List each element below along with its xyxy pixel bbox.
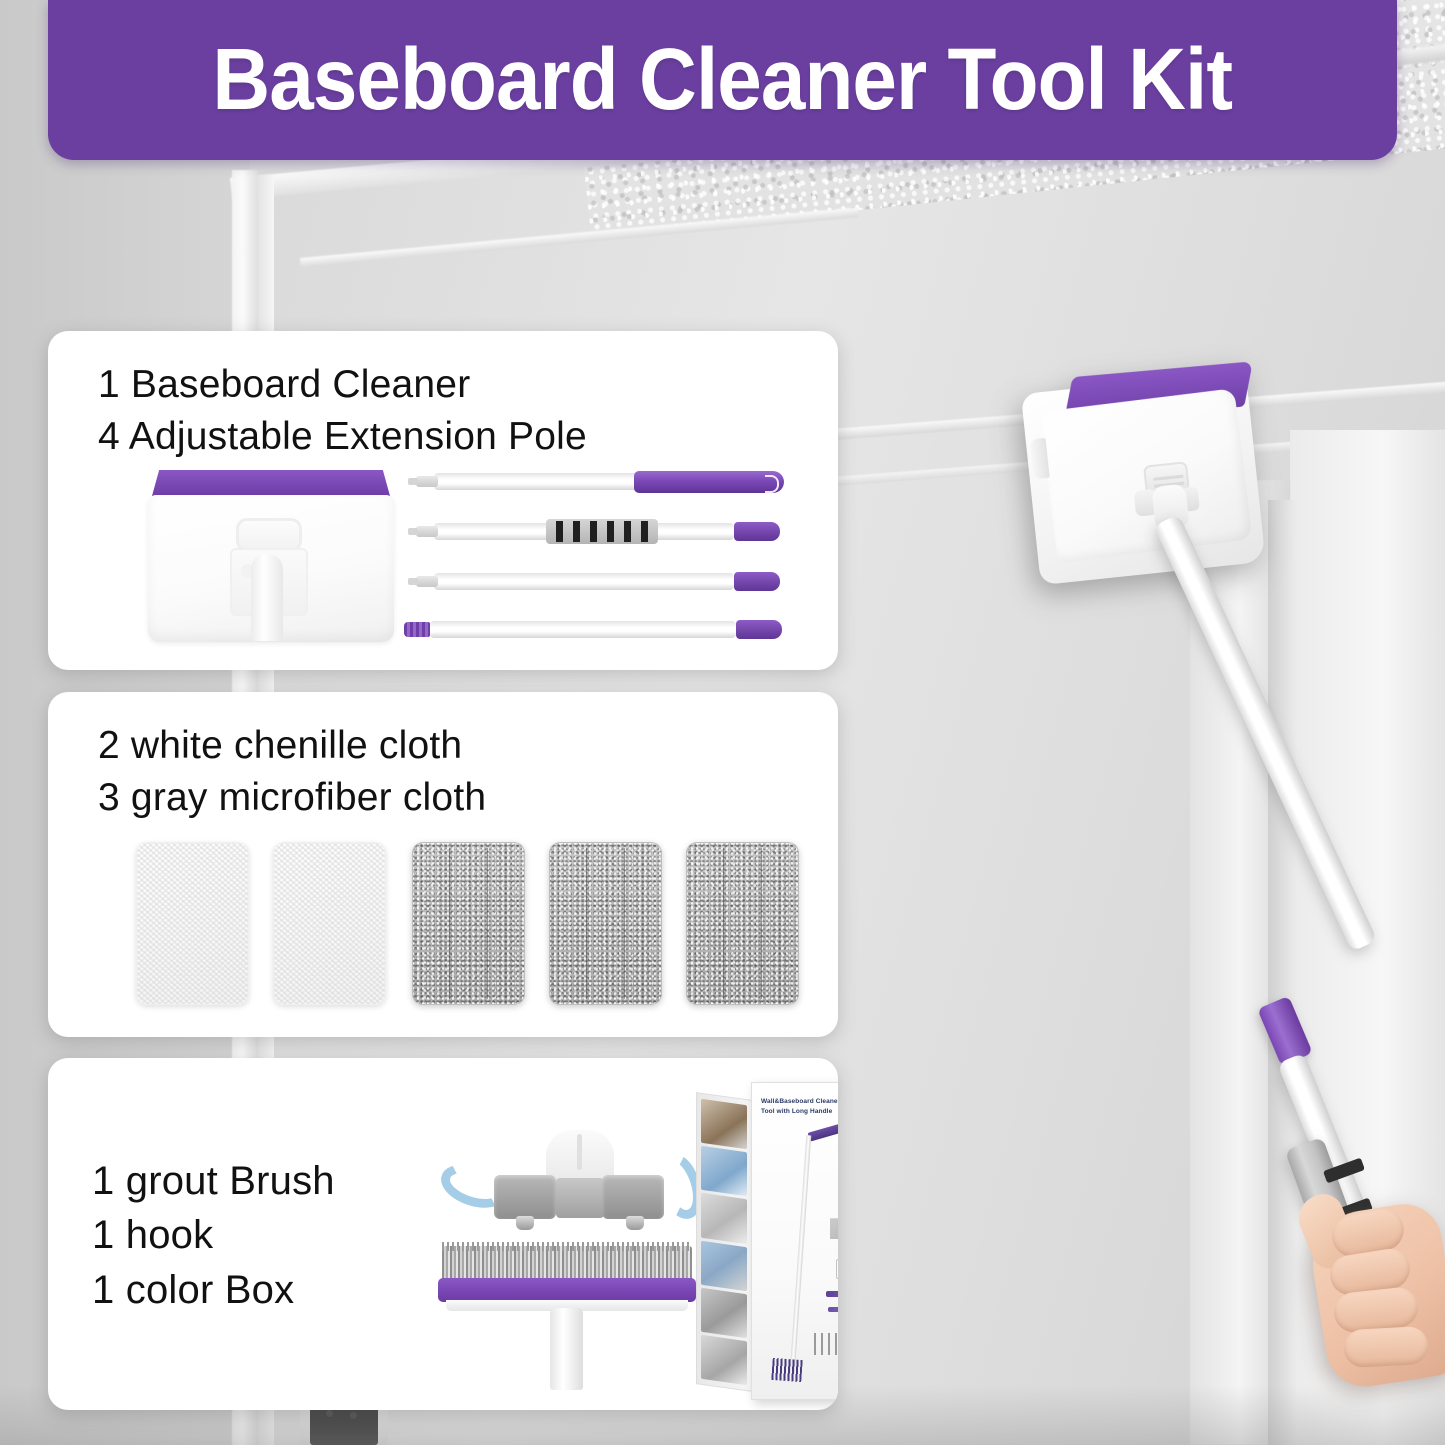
page-title: Baseboard Cleaner Tool Kit — [213, 30, 1233, 130]
pole-4-tube — [430, 621, 736, 638]
card-3-line-3: 1 color Box — [92, 1263, 335, 1317]
brush-purple-base — [438, 1278, 696, 1302]
pole-1-tube — [434, 473, 644, 490]
info-card-cloths: 2 white chenille cloth 3 gray microfiber… — [48, 692, 838, 1037]
pole-1 — [416, 471, 796, 492]
brush-handle-stem — [550, 1308, 583, 1390]
pole-2-tip — [416, 526, 438, 537]
color-box-front-panel: Wall&Baseboard Cleaner Tool with Long Ha… — [751, 1082, 838, 1400]
box-thumbnail — [701, 1146, 747, 1197]
color-box-title-line-2: Tool with Long Handle — [761, 1107, 838, 1117]
box-art-cloth — [830, 1207, 838, 1239]
card-1-line-1: 1 Baseboard Cleaner — [98, 359, 587, 411]
info-card-brush-hook-box: 1 grout Brush 1 hook 1 color Box Wall&B — [48, 1058, 838, 1410]
hook-illustration — [454, 1130, 704, 1250]
cloths-illustration — [136, 842, 796, 1007]
pole-4 — [404, 619, 796, 640]
card-1-line-2: 4 Adjustable Extension Pole — [98, 411, 587, 463]
color-box-side-panel — [696, 1092, 752, 1392]
pole-2-foam-grip — [546, 519, 658, 544]
pole-3-purple-cap — [734, 572, 780, 591]
cloth-gray-3 — [686, 842, 799, 1005]
pole-4-purple-cap — [736, 620, 782, 639]
pole-2 — [416, 521, 796, 542]
pole-4-threaded-tip — [404, 622, 430, 637]
hook-bar-right — [602, 1175, 664, 1219]
card-2-line-1: 2 white chenille cloth — [98, 720, 486, 772]
grout-brush-illustration — [434, 1246, 704, 1391]
hook-screw-foot-left — [516, 1216, 534, 1230]
pole-1-purple-handle — [634, 471, 784, 493]
box-thumbnail — [701, 1193, 747, 1244]
box-art-accessory — [826, 1291, 838, 1297]
mop-head-connector-post — [251, 554, 283, 641]
box-thumbnail — [701, 1335, 747, 1386]
card-2-line-2: 3 gray microfiber cloth — [98, 772, 486, 824]
box-art-accessory — [828, 1307, 838, 1312]
brush-bristles — [442, 1246, 692, 1280]
mop-head-rounded-slot — [236, 518, 302, 552]
door-frame-right-inner — [1268, 500, 1298, 1445]
box-barcode — [771, 1358, 802, 1382]
mop-head-purple-strip — [152, 470, 390, 496]
cloth-gray-2 — [549, 842, 662, 1005]
pole-1-tip — [416, 476, 438, 487]
pole-3 — [416, 571, 796, 592]
card-3-line-1: 1 grout Brush — [92, 1154, 335, 1208]
cloth-white-1 — [136, 842, 249, 1005]
cloth-white-2 — [273, 842, 386, 1005]
box-art-pole — [790, 1135, 812, 1373]
card-1-text-block: 1 Baseboard Cleaner 4 Adjustable Extensi… — [98, 359, 587, 464]
box-art-mop-head — [808, 1121, 838, 1141]
box-thumbnail — [701, 1287, 747, 1338]
box-art-brush — [814, 1333, 838, 1355]
pole-3-tip — [416, 576, 438, 587]
header-banner: Baseboard Cleaner Tool Kit — [48, 0, 1397, 160]
box-thumbnail — [701, 1099, 747, 1150]
hook-bar-middle — [556, 1178, 604, 1218]
pole-2-purple-cap — [734, 522, 780, 541]
card-3-text-block: 1 grout Brush 1 hook 1 color Box — [92, 1154, 335, 1317]
cloth-gray-1 — [412, 842, 525, 1005]
card-2-text-block: 2 white chenille cloth 3 gray microfiber… — [98, 720, 486, 825]
box-thumbnail — [701, 1240, 747, 1291]
mop-head-illustration — [148, 470, 396, 642]
color-box-illustration: Wall&Baseboard Cleaner Tool with Long Ha… — [696, 1082, 838, 1402]
color-box-title: Wall&Baseboard Cleaner Tool with Long Ha… — [761, 1097, 838, 1117]
door-panel — [1290, 430, 1445, 1445]
info-card-cleaner-and-poles: 1 Baseboard Cleaner 4 Adjustable Extensi… — [48, 331, 838, 670]
hook-bar-left — [494, 1175, 556, 1219]
hook-top-mount — [546, 1130, 614, 1182]
hook-screw-foot-right — [626, 1216, 644, 1230]
extension-poles-illustration — [416, 467, 796, 647]
box-art-icon — [836, 1259, 838, 1279]
color-box-title-line-1: Wall&Baseboard Cleaner — [761, 1097, 838, 1107]
card-3-line-2: 1 hook — [92, 1208, 335, 1262]
pole-3-tube — [434, 573, 734, 590]
